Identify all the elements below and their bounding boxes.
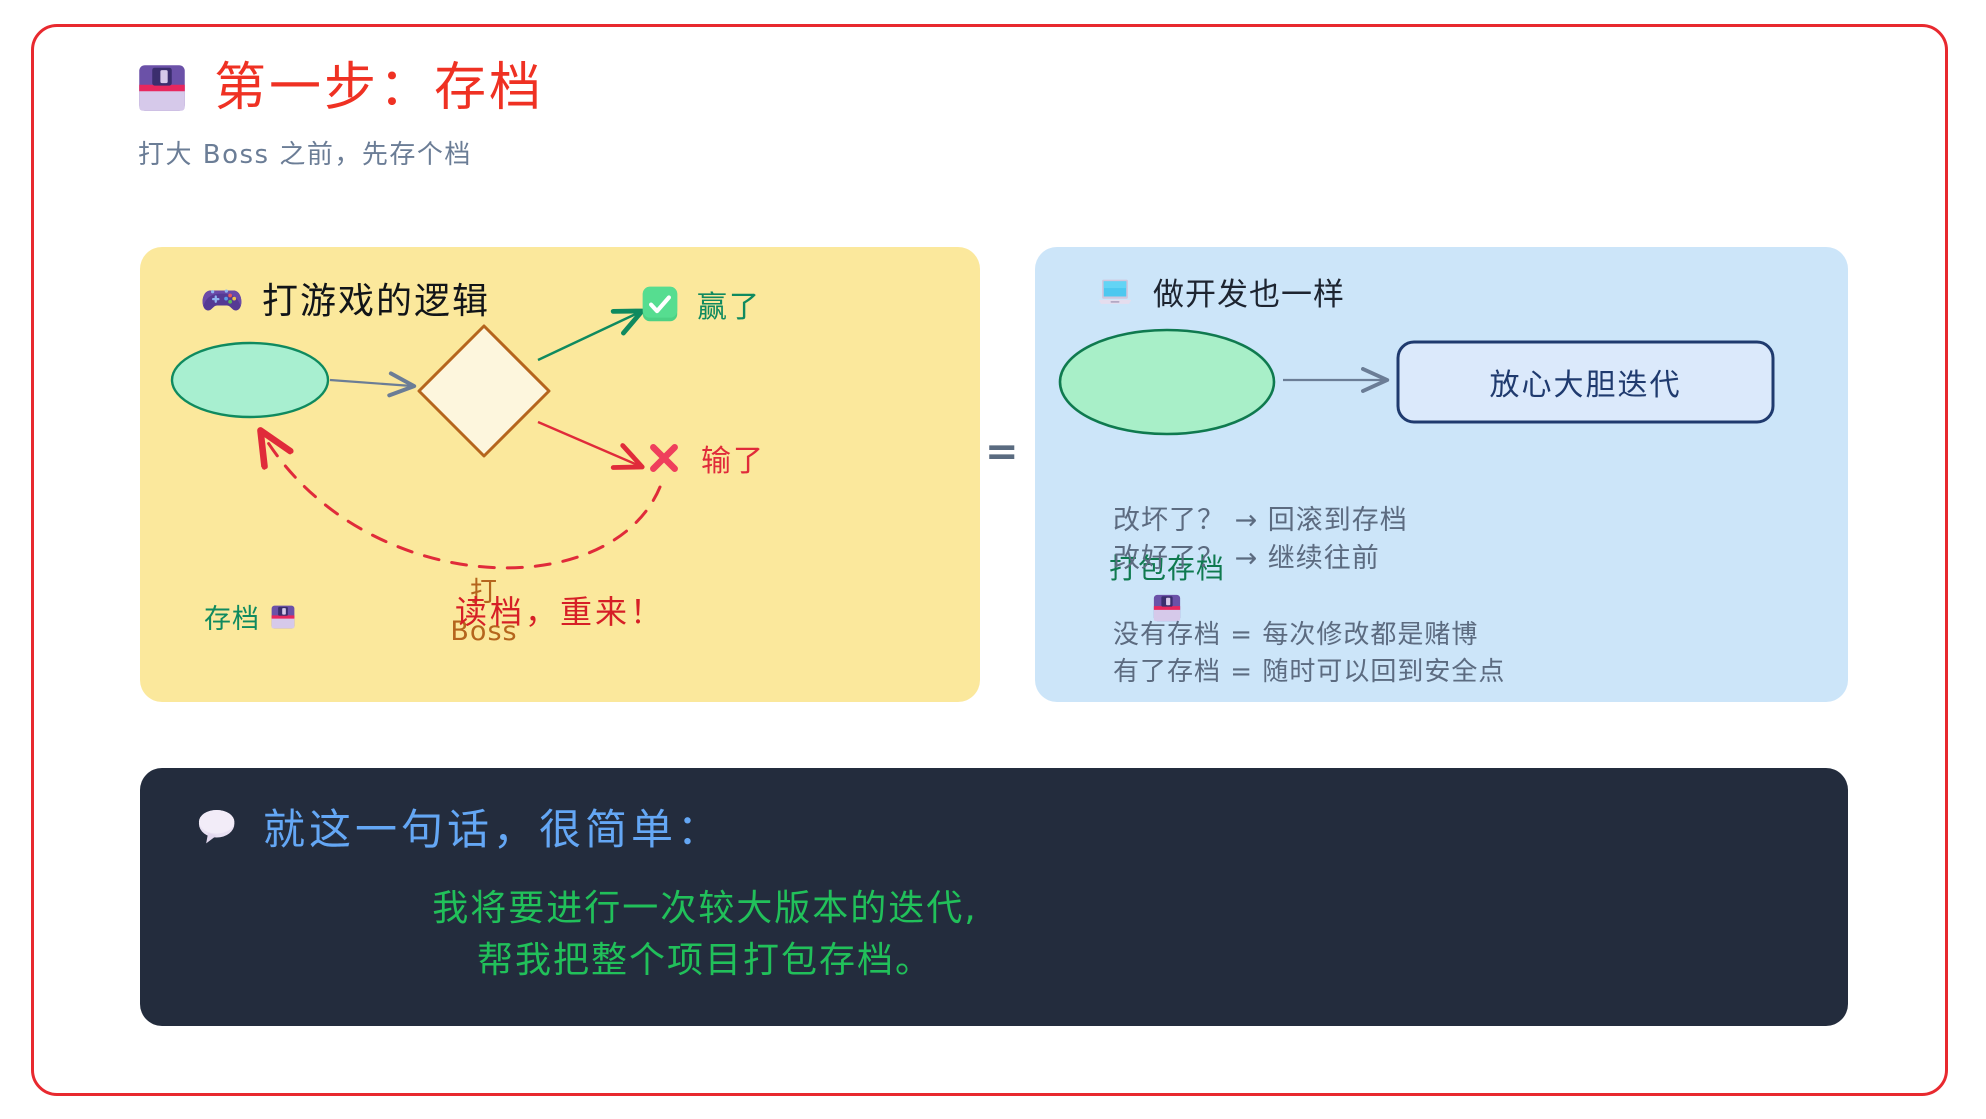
summary-header: 就这一句话，很简单：	[195, 796, 723, 857]
floppy-disk-icon	[136, 62, 188, 114]
dev-note-line: 没有存档 = 每次修改都是赌博	[1113, 617, 1505, 654]
loop-label: 读档，重来！	[455, 593, 665, 631]
dev-note-line: 有了存档 = 随时可以回到安全点	[1113, 654, 1505, 691]
page-canvas: 第一步：存档 打大 Boss 之前，先存个档 打游戏的逻辑	[0, 0, 1986, 1119]
summary-quote-line1: 我将要进行一次较大版本的迭代,	[432, 888, 977, 929]
node-lose-label: 输了	[701, 436, 765, 480]
edge-lose-to-save	[262, 433, 660, 568]
edge-boss-to-lose	[538, 422, 640, 466]
summary-card: 就这一句话，很简单： 我将要进行一次较大版本的迭代, 帮我把整个项目打包存档。	[140, 768, 1848, 1026]
dev-notes-group-b: 没有存档 = 每次修改都是赌博 有了存档 = 随时可以回到安全点	[1113, 617, 1505, 690]
loop-label-wrap: 读档，重来！	[140, 587, 980, 633]
page-title-row: 第一步：存档	[136, 62, 1136, 114]
node-save	[172, 343, 328, 417]
panel-game-logic: 打游戏的逻辑	[140, 247, 980, 702]
edge-save-to-boss	[330, 380, 412, 386]
node-boss	[419, 326, 549, 456]
node-win-group: 赢了	[641, 282, 761, 326]
dev-note-line: 改坏了？ → 回滚到存档	[1113, 502, 1408, 540]
equals-symbol: =	[985, 432, 1019, 472]
summary-quote: 我将要进行一次较大版本的迭代, 帮我把整个项目打包存档。	[255, 883, 1155, 987]
node-lose-group: 输了	[645, 436, 765, 480]
cross-mark-icon	[645, 439, 683, 477]
summary-quote-line2: 帮我把整个项目打包存档。	[255, 935, 1155, 987]
edge-boss-to-win	[538, 312, 640, 360]
speech-bubble-icon	[195, 806, 237, 848]
node-win-label: 赢了	[697, 282, 761, 326]
dev-note-line: 改好了？ → 继续往前	[1113, 540, 1408, 578]
node-iterate-label: 放心大胆迭代	[1398, 360, 1773, 404]
summary-title: 就这一句话，很简单：	[263, 796, 723, 857]
page-title: 第一步：存档	[214, 62, 544, 114]
check-mark-button-icon	[641, 285, 679, 323]
dev-notes-group-a: 改坏了？ → 回滚到存档 改好了？ → 继续往前	[1113, 502, 1408, 578]
page-subtitle: 打大 Boss 之前，先存个档	[138, 134, 1136, 171]
node-package	[1060, 330, 1274, 434]
page-header: 第一步：存档 打大 Boss 之前，先存个档	[136, 62, 1136, 171]
